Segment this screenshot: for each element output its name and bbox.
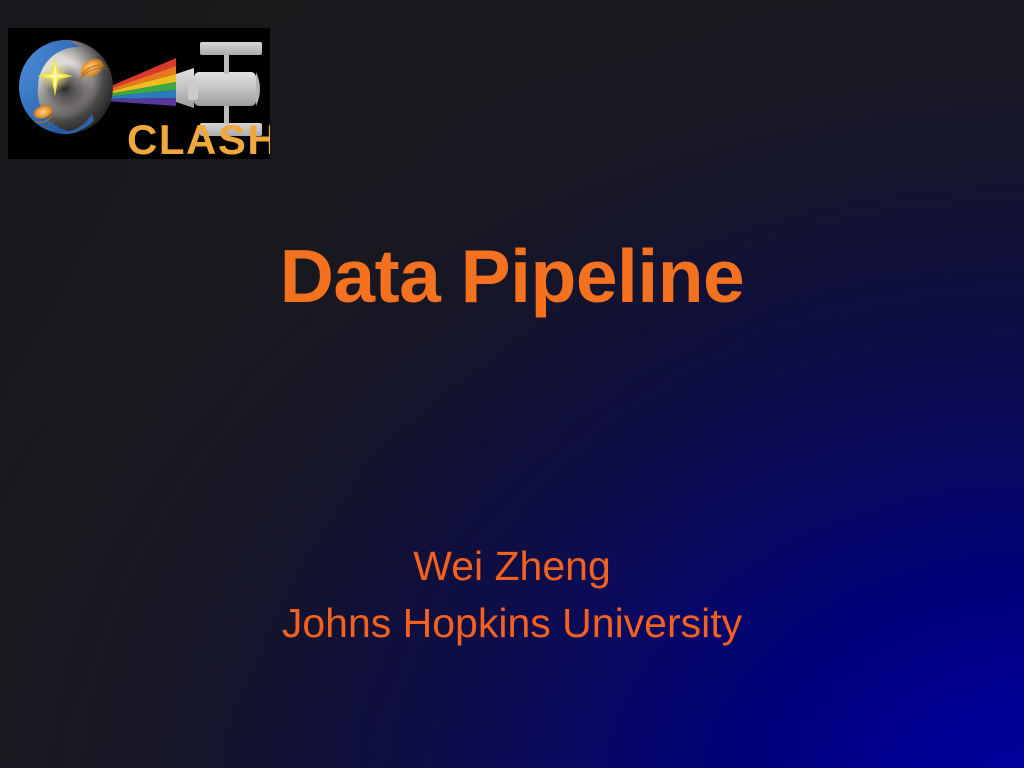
page-title: Data Pipeline (0, 236, 1024, 317)
author-name: Wei Zheng (0, 538, 1024, 595)
clash-wordmark: CLASH (127, 116, 270, 159)
clash-logo-artwork: CLASH (8, 28, 270, 159)
cluster-sphere (19, 40, 113, 134)
subtitle-placeholder: Wei Zheng Johns Hopkins University (0, 538, 1024, 652)
presentation-slide: CLASH Data Pipeline Wei Zheng Johns Hopk… (0, 0, 1024, 768)
title-placeholder: Data Pipeline (0, 236, 1024, 317)
author-affiliation: Johns Hopkins University (0, 595, 1024, 652)
clash-logo: CLASH (8, 28, 270, 159)
